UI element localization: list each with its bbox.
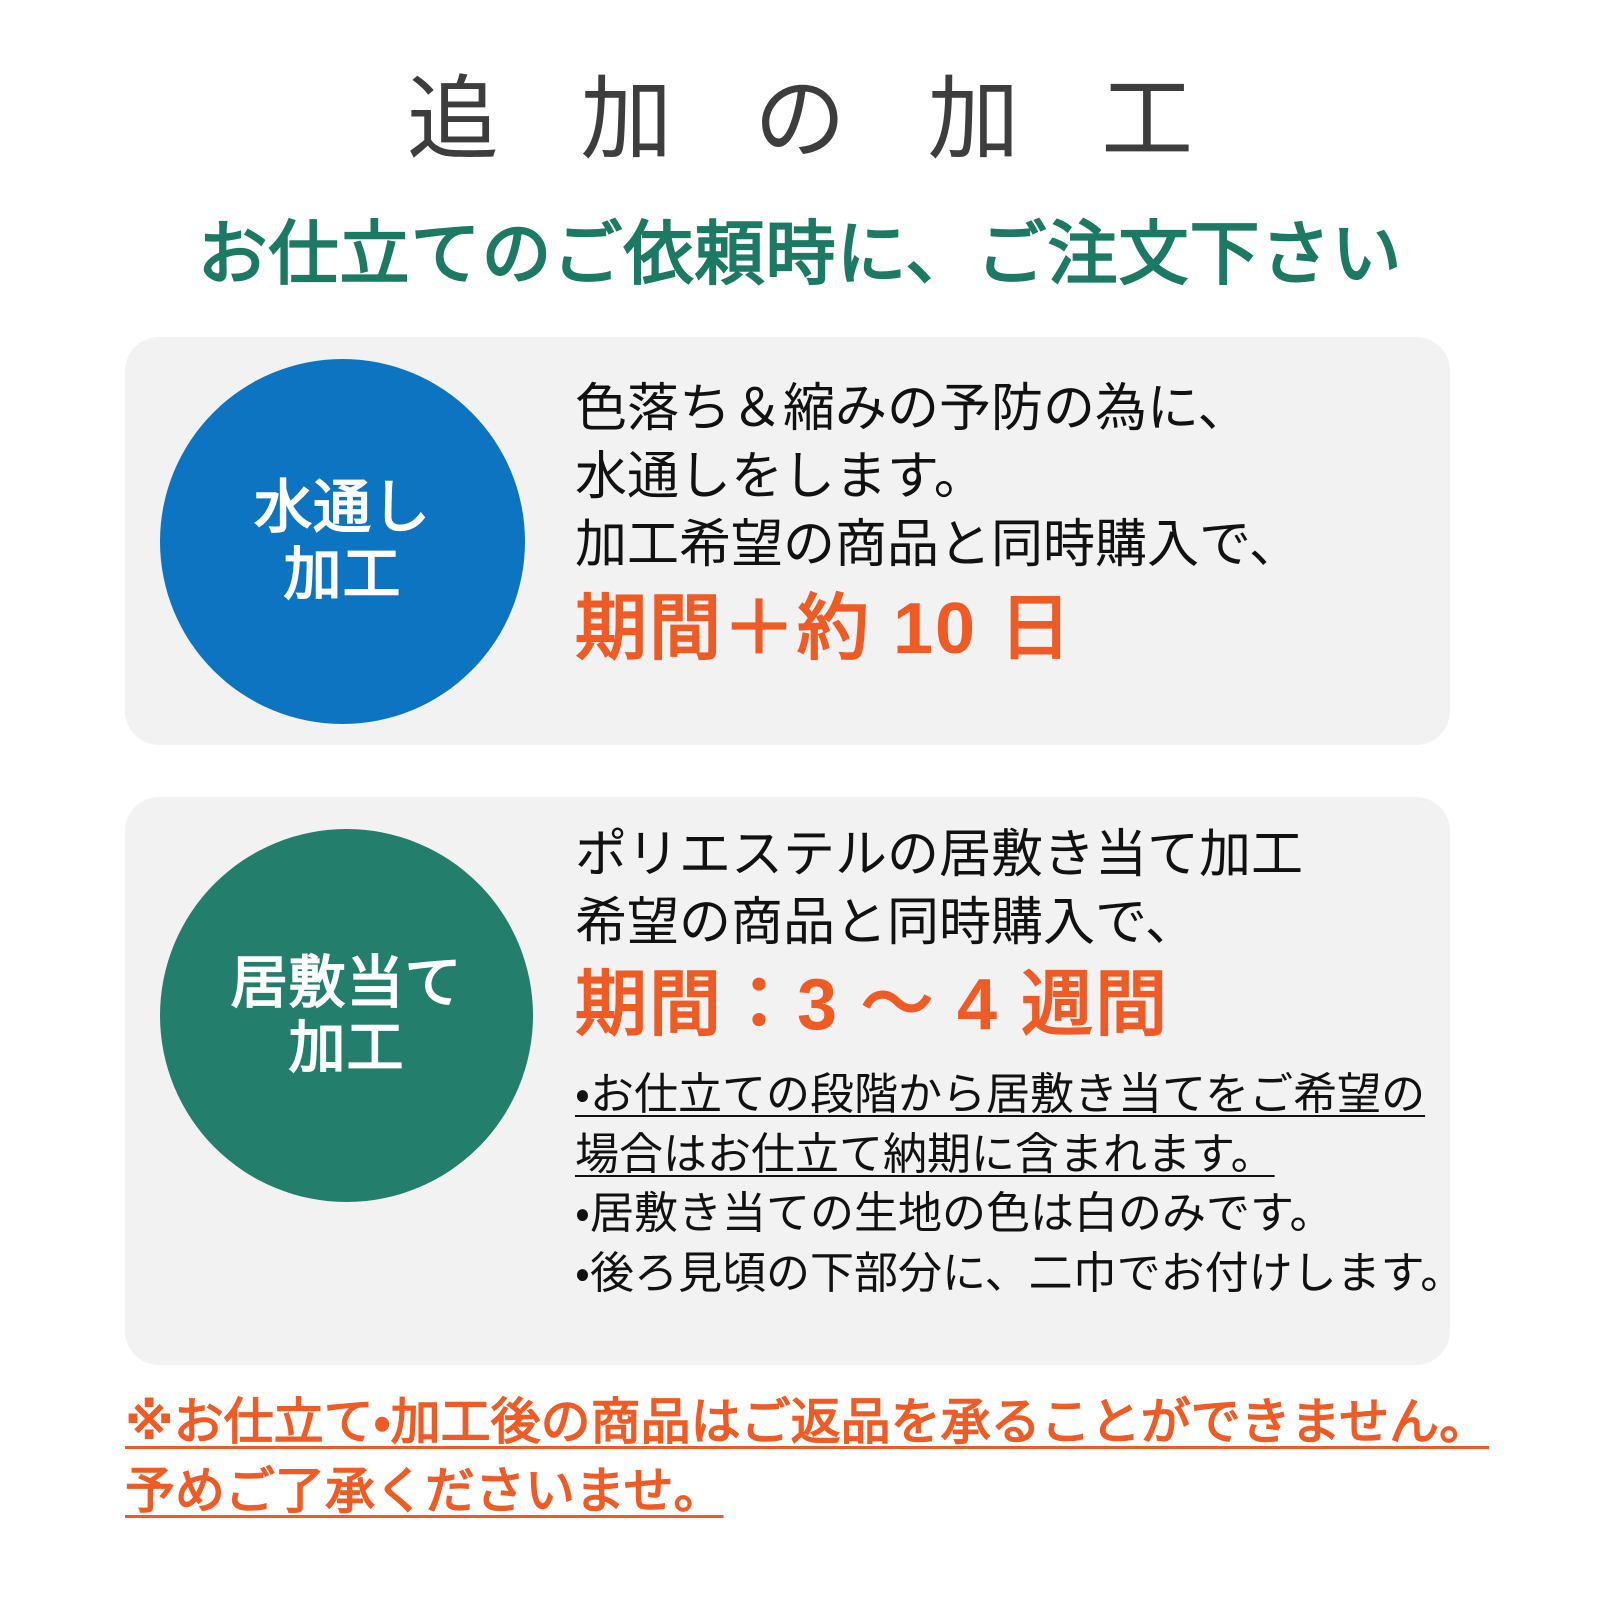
footer-disclaimer-line-2: 予めご了承くださいませ。 (125, 1457, 1525, 1526)
card-ishikiate-body-line-1: ポリエステルの居敷き当て加工 (575, 821, 1432, 889)
footer-disclaimer-line-1: ※お仕立て・加工後の商品はご返品を承ることができません。 (125, 1388, 1525, 1457)
badge-mizutoshi-line1: 水通し (254, 475, 431, 541)
footer-disclaimer: ※お仕立て・加工後の商品はご返品を承ることができません。 予めご了承くださいませ… (125, 1388, 1525, 1526)
note-item-1: ・お仕立ての段階から居敷き当てをご希望の (575, 1065, 1432, 1125)
card-ishikiate-notes: ・お仕立ての段階から居敷き当てをご希望の 場合はお仕立て納期に含まれます。 ・居… (575, 1065, 1432, 1304)
badge-mizutoshi-line2: 加工 (283, 542, 401, 608)
card-mizutoshi-duration: 期間＋約 10 日 (575, 583, 1432, 677)
infographic-page: 追 加 の 加 工 お仕立てのご依頼時に、ご注文下さい 水通し 加工 色落ち＆縮… (0, 0, 1600, 1600)
card-mizutoshi-body: 色落ち＆縮みの予防の為に、 水通しをします。 加工希望の商品と同時購入で、 期間… (575, 375, 1432, 677)
note-item-3: ・後ろ見頃の下部分に、二巾でお付けします。 (575, 1244, 1432, 1304)
note-item-2: ・居敷き当ての生地の色は白のみです。 (575, 1184, 1432, 1244)
card-mizutoshi-body-line-1: 色落ち＆縮みの予防の為に、 (575, 375, 1432, 443)
card-mizutoshi-body-line-3: 加工希望の商品と同時購入で、 (575, 511, 1432, 579)
card-ishikiate-body-line-2: 希望の商品と同時購入で、 (575, 889, 1432, 957)
card-ishikiate-body: ポリエステルの居敷き当て加工 希望の商品と同時購入で、 期間：3 〜 4 週間 … (575, 821, 1432, 1304)
note-item-1-cont: 場合はお仕立て納期に含まれます。 (575, 1125, 1432, 1185)
page-title: 追 加 の 加 工 (0, 72, 1600, 169)
badge-ishikiate-line1: 居敷当て (231, 951, 463, 1016)
page-subtitle: お仕立てのご依頼時に、ご注文下さい (0, 216, 1600, 293)
badge-ishikiate: 居敷当て 加工 (160, 829, 533, 1202)
card-ishikiate: 居敷当て 加工 ポリエステルの居敷き当て加工 希望の商品と同時購入で、 期間：3… (125, 797, 1450, 1365)
card-mizutoshi: 水通し 加工 色落ち＆縮みの予防の為に、 水通しをします。 加工希望の商品と同時… (125, 337, 1450, 745)
card-mizutoshi-body-line-2: 水通しをします。 (575, 443, 1432, 511)
badge-mizutoshi: 水通し 加工 (160, 359, 525, 724)
badge-ishikiate-line2: 加工 (289, 1016, 405, 1081)
card-ishikiate-duration: 期間：3 〜 4 週間 (575, 959, 1432, 1053)
